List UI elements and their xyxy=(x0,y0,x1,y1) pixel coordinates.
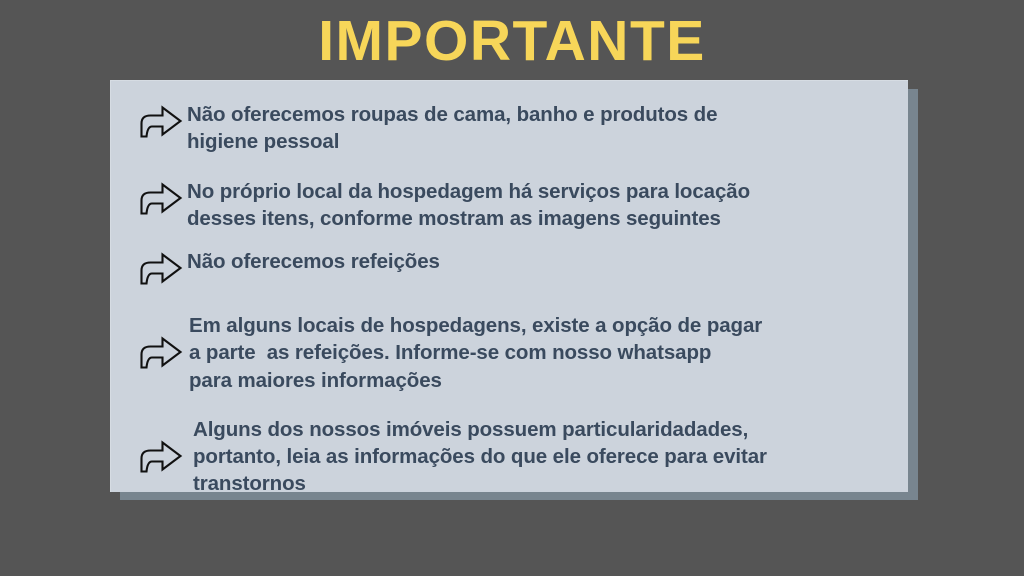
list-item: No próprio local da hospedagem há serviç… xyxy=(111,178,908,233)
list-item-label: Alguns dos nossos imóveis possuem partic… xyxy=(187,416,767,492)
list-item-label: Não oferecemos roupas de cama, banho e p… xyxy=(187,101,717,156)
curved-block-arrow-right-icon xyxy=(135,103,183,141)
page-title: IMPORTANTE xyxy=(0,12,1024,72)
curved-block-arrow-right-icon xyxy=(135,438,183,476)
curved-block-arrow-right-icon xyxy=(135,180,183,218)
list-item: Não oferecemos roupas de cama, banho e p… xyxy=(111,101,908,156)
list-item-label: Em alguns locais de hospedagens, existe … xyxy=(187,312,762,394)
list-item: Em alguns locais de hospedagens, existe … xyxy=(111,312,908,394)
curved-block-arrow-right-icon xyxy=(135,250,183,288)
list-item-label: No próprio local da hospedagem há serviç… xyxy=(187,178,750,233)
list-item: Alguns dos nossos imóveis possuem partic… xyxy=(111,416,908,492)
curved-block-arrow-right-icon xyxy=(135,334,183,372)
content-panel: Não oferecemos roupas de cama, banho e p… xyxy=(110,80,908,492)
list-item-label: Não oferecemos refeições xyxy=(187,248,440,275)
slide-canvas: IMPORTANTE Não oferecemos roupas de cama… xyxy=(0,0,1024,576)
list-item: Não oferecemos refeições xyxy=(111,248,908,288)
bullet-list: Não oferecemos roupas de cama, banho e p… xyxy=(111,101,908,492)
